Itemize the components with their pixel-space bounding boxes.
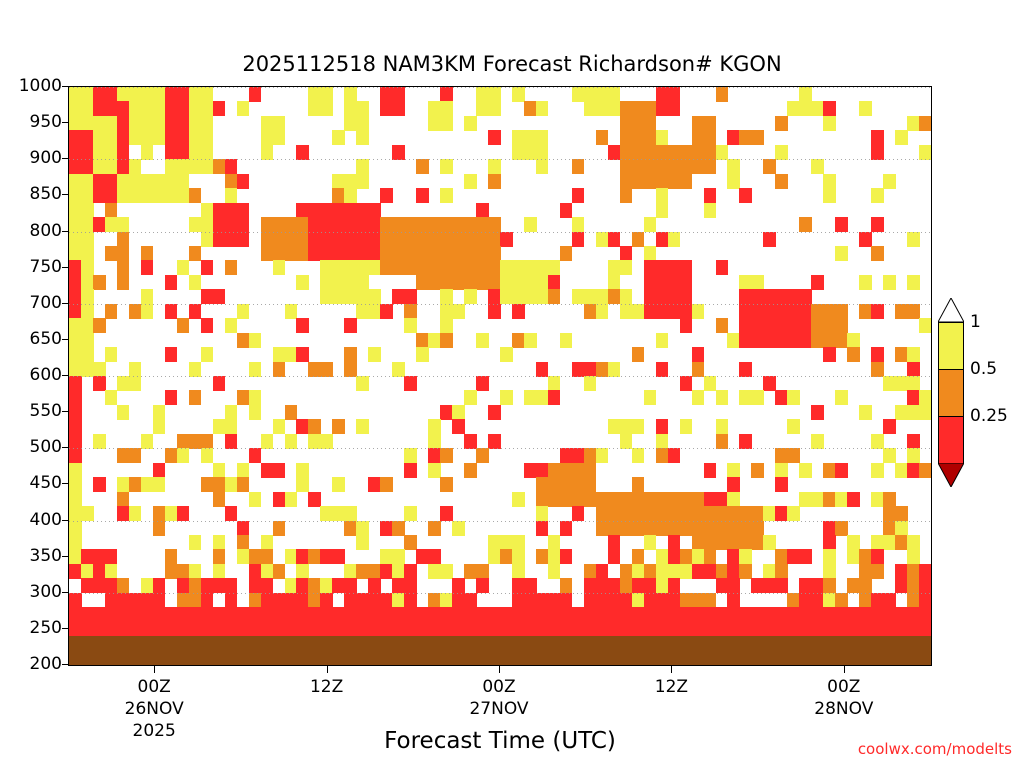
heatmap-cell — [823, 116, 836, 131]
heatmap-cell — [859, 607, 872, 622]
heatmap-cell — [404, 564, 417, 579]
heatmap-cell — [428, 564, 441, 579]
heatmap-cell — [895, 463, 908, 478]
heatmap-cell — [285, 492, 298, 507]
heatmap-cell — [716, 145, 729, 160]
heatmap-cell — [368, 593, 381, 608]
heatmap-cell — [201, 434, 214, 449]
colorbar-segment — [938, 322, 964, 369]
heatmap-cell — [392, 549, 405, 564]
heatmap-cell — [332, 607, 345, 622]
heatmap-cell — [356, 651, 369, 666]
heatmap-cell — [93, 188, 106, 203]
heatmap-cell — [704, 203, 717, 218]
heatmap-cell — [883, 593, 896, 608]
heatmap-cell — [620, 578, 633, 593]
heatmap-cell — [392, 564, 405, 579]
heatmap-cell — [249, 362, 262, 377]
heatmap-cell — [632, 232, 645, 247]
heatmap-cell — [500, 260, 513, 275]
colorbar-label: 1 — [970, 312, 981, 332]
heatmap-cell — [811, 492, 824, 507]
heatmap-cell — [452, 419, 465, 434]
heatmap-cell — [799, 651, 812, 666]
heatmap-cell — [895, 578, 908, 593]
heatmap-cell — [883, 448, 896, 463]
heatmap-cell — [751, 506, 764, 521]
heatmap-cell — [799, 333, 812, 348]
heatmap-cell — [620, 304, 633, 319]
heatmap-cell — [739, 622, 752, 637]
heatmap-cell — [105, 564, 118, 579]
heatmap-cell — [440, 289, 453, 304]
heatmap-cell — [763, 232, 776, 247]
heatmap-cell — [823, 535, 836, 550]
heatmap-cell — [512, 145, 525, 160]
heatmap-cell — [668, 275, 681, 290]
heatmap-cell — [656, 492, 669, 507]
heatmap-cell — [895, 405, 908, 420]
heatmap-cell — [296, 419, 309, 434]
heatmap-cell — [512, 535, 525, 550]
heatmap-cell — [344, 651, 357, 666]
heatmap-cell — [656, 203, 669, 218]
heatmap-cell — [153, 622, 166, 637]
heatmap-cell — [512, 549, 525, 564]
heatmap-cell — [763, 304, 776, 319]
heatmap-cell — [548, 289, 561, 304]
heatmap-cell — [704, 492, 717, 507]
heatmap-cell — [308, 434, 321, 449]
heatmap-cell — [620, 492, 633, 507]
heatmap-cell — [488, 232, 501, 247]
heatmap-cell — [656, 636, 669, 651]
heatmap-cell — [668, 651, 681, 666]
heatmap-cell — [656, 362, 669, 377]
heatmap-cell — [356, 217, 369, 232]
heatmap-cell — [883, 419, 896, 434]
heatmap-cell — [380, 593, 393, 608]
heatmap-cell — [668, 159, 681, 174]
heatmap-cell — [225, 232, 238, 247]
heatmap-cell — [117, 376, 130, 391]
x-axis-tick-label: 12Z — [655, 676, 688, 698]
heatmap-cell — [237, 622, 250, 637]
heatmap-cell — [308, 203, 321, 218]
heatmap-cell — [332, 188, 345, 203]
heatmap-cell — [320, 506, 333, 521]
heatmap-cell — [668, 607, 681, 622]
heatmap-cell — [692, 636, 705, 651]
heatmap-plot-area — [68, 86, 932, 666]
colorbar-tick — [938, 369, 964, 370]
heatmap-cell — [716, 260, 729, 275]
heatmap-cell — [620, 607, 633, 622]
heatmap-cell — [632, 564, 645, 579]
heatmap-cell — [368, 651, 381, 666]
heatmap-cell — [716, 636, 729, 651]
heatmap-cell — [500, 607, 513, 622]
heatmap-cell — [823, 651, 836, 666]
heatmap-cell — [380, 549, 393, 564]
heatmap-cell — [500, 651, 513, 666]
heatmap-cell — [871, 304, 884, 319]
heatmap-cell — [620, 174, 633, 189]
heatmap-cell — [344, 116, 357, 131]
heatmap-cell — [536, 521, 549, 536]
heatmap-cell — [165, 506, 178, 521]
heatmap-cell — [404, 636, 417, 651]
heatmap-cell — [716, 578, 729, 593]
heatmap-cell — [488, 549, 501, 564]
heatmap-cell — [608, 549, 621, 564]
heatmap-cell — [871, 535, 884, 550]
heatmap-cell — [799, 578, 812, 593]
heatmap-cell — [93, 159, 106, 174]
heatmap-cell — [105, 188, 118, 203]
heatmap-cell — [763, 318, 776, 333]
heatmap-cell — [380, 564, 393, 579]
heatmap-cell — [428, 607, 441, 622]
heatmap-cell — [835, 622, 848, 637]
heatmap-cell — [285, 549, 298, 564]
heatmap-cell — [153, 87, 166, 102]
heatmap-cell — [704, 564, 717, 579]
heatmap-cell — [524, 463, 537, 478]
heatmap-cell — [632, 174, 645, 189]
heatmap-cell — [572, 651, 585, 666]
heatmap-cell — [69, 217, 82, 232]
heatmap-cell — [608, 535, 621, 550]
heatmap-cell — [308, 549, 321, 564]
heatmap-cell — [332, 578, 345, 593]
heatmap-cell — [476, 246, 489, 261]
heatmap-cell — [452, 607, 465, 622]
heatmap-cell — [775, 636, 788, 651]
heatmap-cell — [225, 203, 238, 218]
heatmap-cell — [273, 362, 286, 377]
heatmap-cell — [237, 101, 250, 116]
heatmap-cell — [189, 217, 202, 232]
heatmap-cell — [249, 578, 262, 593]
heatmap-cell — [727, 564, 740, 579]
heatmap-cell — [596, 521, 609, 536]
y-axis-tick — [62, 194, 68, 195]
heatmap-cell — [368, 347, 381, 362]
heatmap-cell — [656, 651, 669, 666]
heatmap-cell — [93, 607, 106, 622]
heatmap-cell — [81, 188, 94, 203]
heatmap-cell — [907, 564, 920, 579]
heatmap-cell — [823, 636, 836, 651]
heatmap-cell — [165, 145, 178, 160]
heatmap-cell — [344, 188, 357, 203]
heatmap-cell — [560, 448, 573, 463]
heatmap-cell — [704, 130, 717, 145]
heatmap-cell — [81, 362, 94, 377]
heatmap-cell — [69, 159, 82, 174]
heatmap-cell — [907, 405, 920, 420]
heatmap-cell — [716, 434, 729, 449]
heatmap-cell — [811, 607, 824, 622]
heatmap-cell — [716, 521, 729, 536]
heatmap-cell — [620, 622, 633, 637]
heatmap-cell — [751, 304, 764, 319]
heatmap-cell — [332, 217, 345, 232]
heatmap-cell — [512, 564, 525, 579]
heatmap-cell — [895, 651, 908, 666]
heatmap-cell — [296, 347, 309, 362]
heatmap-cell — [787, 318, 800, 333]
heatmap-cell — [296, 145, 309, 160]
heatmap-cell — [440, 333, 453, 348]
heatmap-cell — [799, 492, 812, 507]
heatmap-cell — [404, 304, 417, 319]
heatmap-cell — [105, 651, 118, 666]
heatmap-cell — [871, 145, 884, 160]
heatmap-cell — [871, 622, 884, 637]
heatmap-cell — [285, 304, 298, 319]
heatmap-cell — [261, 564, 274, 579]
heatmap-cell — [692, 651, 705, 666]
heatmap-cell — [464, 463, 477, 478]
heatmap-cell — [656, 232, 669, 247]
heatmap-cell — [524, 333, 537, 348]
heatmap-cell — [81, 564, 94, 579]
heatmap-cell — [129, 362, 142, 377]
heatmap-cell — [704, 607, 717, 622]
heatmap-cell — [296, 564, 309, 579]
heatmap-cell — [93, 578, 106, 593]
heatmap-cell — [775, 578, 788, 593]
heatmap-cell — [775, 145, 788, 160]
heatmap-cell — [787, 333, 800, 348]
heatmap-cell — [656, 145, 669, 160]
heatmap-cell — [105, 578, 118, 593]
heatmap-cell — [213, 419, 226, 434]
heatmap-cell — [835, 390, 848, 405]
heatmap-cell — [380, 246, 393, 261]
heatmap-cell — [356, 130, 369, 145]
heatmap-cell — [895, 130, 908, 145]
heatmap-cell — [93, 145, 106, 160]
heatmap-cell — [763, 506, 776, 521]
heatmap-cell — [296, 636, 309, 651]
heatmap-cell — [524, 217, 537, 232]
heatmap-cell — [811, 578, 824, 593]
heatmap-cell — [859, 651, 872, 666]
heatmap-cell — [596, 232, 609, 247]
heatmap-cell — [440, 188, 453, 203]
heatmap-cell — [560, 593, 573, 608]
heatmap-cell — [632, 477, 645, 492]
heatmap-cell — [919, 318, 932, 333]
heatmap-cell — [704, 376, 717, 391]
heatmap-cell — [356, 376, 369, 391]
heatmap-cell — [81, 289, 94, 304]
heatmap-cell — [488, 275, 501, 290]
heatmap-cell — [320, 607, 333, 622]
heatmap-cell — [847, 549, 860, 564]
heatmap-cell — [440, 246, 453, 261]
heatmap-cell — [524, 390, 537, 405]
heatmap-cell — [380, 217, 393, 232]
heatmap-cell — [787, 390, 800, 405]
heatmap-cell — [919, 564, 932, 579]
heatmap-cell — [308, 651, 321, 666]
heatmap-cell — [739, 362, 752, 377]
heatmap-cell — [656, 448, 669, 463]
heatmap-cell — [536, 506, 549, 521]
heatmap-cell — [704, 506, 717, 521]
heatmap-cell — [273, 492, 286, 507]
heatmap-cell — [596, 130, 609, 145]
heatmap-cell — [596, 506, 609, 521]
heatmap-cell — [584, 578, 597, 593]
heatmap-cell — [692, 593, 705, 608]
heatmap-cell — [380, 622, 393, 637]
colorbar-top-arrow — [938, 298, 964, 322]
colorbar-legend: 10.50.25 — [938, 298, 964, 488]
heatmap-cell — [129, 116, 142, 131]
heatmap-cell — [680, 651, 693, 666]
heatmap-cell — [129, 593, 142, 608]
heatmap-cell — [308, 492, 321, 507]
heatmap-cell — [500, 622, 513, 637]
heatmap-cell — [859, 564, 872, 579]
heatmap-cell — [656, 607, 669, 622]
x-axis-tick — [154, 666, 155, 673]
heatmap-cell — [763, 333, 776, 348]
heatmap-cell — [189, 636, 202, 651]
heatmap-cell — [739, 188, 752, 203]
heatmap-cell — [536, 260, 549, 275]
heatmap-cell — [488, 159, 501, 174]
heatmap-cell — [692, 159, 705, 174]
heatmap-cell — [380, 101, 393, 116]
heatmap-cell — [320, 593, 333, 608]
heatmap-cell — [320, 651, 333, 666]
heatmap-cell — [787, 549, 800, 564]
heatmap-cell — [584, 622, 597, 637]
heatmap-cell — [225, 477, 238, 492]
heatmap-cell — [739, 390, 752, 405]
heatmap-cell — [464, 564, 477, 579]
heatmap-cell — [153, 174, 166, 189]
heatmap-cell — [332, 477, 345, 492]
heatmap-cell — [644, 217, 657, 232]
heatmap-cell — [620, 145, 633, 160]
heatmap-cell — [237, 636, 250, 651]
heatmap-cell — [596, 492, 609, 507]
heatmap-cell — [404, 463, 417, 478]
heatmap-cell — [476, 87, 489, 102]
heatmap-cell — [153, 521, 166, 536]
heatmap-cell — [428, 333, 441, 348]
heatmap-cell — [680, 419, 693, 434]
heatmap-cell — [356, 564, 369, 579]
heatmap-cell — [548, 607, 561, 622]
heatmap-cell — [488, 535, 501, 550]
heatmap-cell — [237, 535, 250, 550]
heatmap-cell — [165, 390, 178, 405]
heatmap-cell — [213, 101, 226, 116]
heatmap-cell — [656, 564, 669, 579]
heatmap-cell — [177, 116, 190, 131]
heatmap-cell — [644, 593, 657, 608]
heatmap-cell — [560, 607, 573, 622]
heatmap-cell — [680, 622, 693, 637]
heatmap-cell — [225, 159, 238, 174]
heatmap-cell — [919, 636, 932, 651]
heatmap-cell — [847, 607, 860, 622]
heatmap-cell — [644, 607, 657, 622]
heatmap-cell — [895, 304, 908, 319]
heatmap-cell — [584, 289, 597, 304]
heatmap-cell — [308, 593, 321, 608]
heatmap-cell — [823, 174, 836, 189]
heatmap-cell — [668, 174, 681, 189]
heatmap-cell — [141, 477, 154, 492]
heatmap-cell — [153, 607, 166, 622]
heatmap-cell — [656, 130, 669, 145]
heatmap-cell — [584, 593, 597, 608]
heatmap-cell — [739, 607, 752, 622]
heatmap-cell — [69, 419, 82, 434]
heatmap-cell — [81, 174, 94, 189]
heatmap-cell — [213, 578, 226, 593]
heatmap-cell — [332, 506, 345, 521]
heatmap-cell — [404, 506, 417, 521]
heatmap-cell — [644, 304, 657, 319]
heatmap-cell — [249, 405, 262, 420]
heatmap-cell — [907, 347, 920, 362]
heatmap-cell — [296, 463, 309, 478]
colorbar-segment — [938, 416, 964, 463]
heatmap-cell — [93, 376, 106, 391]
heatmap-cell — [356, 535, 369, 550]
heatmap-cell — [584, 376, 597, 391]
heatmap-cell — [572, 362, 585, 377]
y-axis-tick — [62, 628, 68, 629]
heatmap-cell — [273, 636, 286, 651]
heatmap-cell — [919, 390, 932, 405]
heatmap-cell — [320, 87, 333, 102]
heatmap-cell — [811, 405, 824, 420]
heatmap-cell — [859, 622, 872, 637]
heatmap-cell — [296, 578, 309, 593]
heatmap-cell — [416, 232, 429, 247]
heatmap-cell — [536, 390, 549, 405]
heatmap-cell — [548, 593, 561, 608]
heatmap-cell — [440, 318, 453, 333]
heatmap-cell — [296, 593, 309, 608]
heatmap-cell — [883, 607, 896, 622]
heatmap-cell — [380, 87, 393, 102]
heatmap-cell — [237, 651, 250, 666]
heatmap-cell — [536, 607, 549, 622]
heatmap-cell — [273, 419, 286, 434]
heatmap-cell — [165, 347, 178, 362]
heatmap-cell — [476, 260, 489, 275]
heatmap-cell — [153, 477, 166, 492]
heatmap-cell — [261, 593, 274, 608]
heatmap-cell — [189, 304, 202, 319]
heatmap-cell — [404, 448, 417, 463]
heatmap-cell — [452, 304, 465, 319]
heatmap-cell — [81, 116, 94, 131]
heatmap-cell — [344, 578, 357, 593]
